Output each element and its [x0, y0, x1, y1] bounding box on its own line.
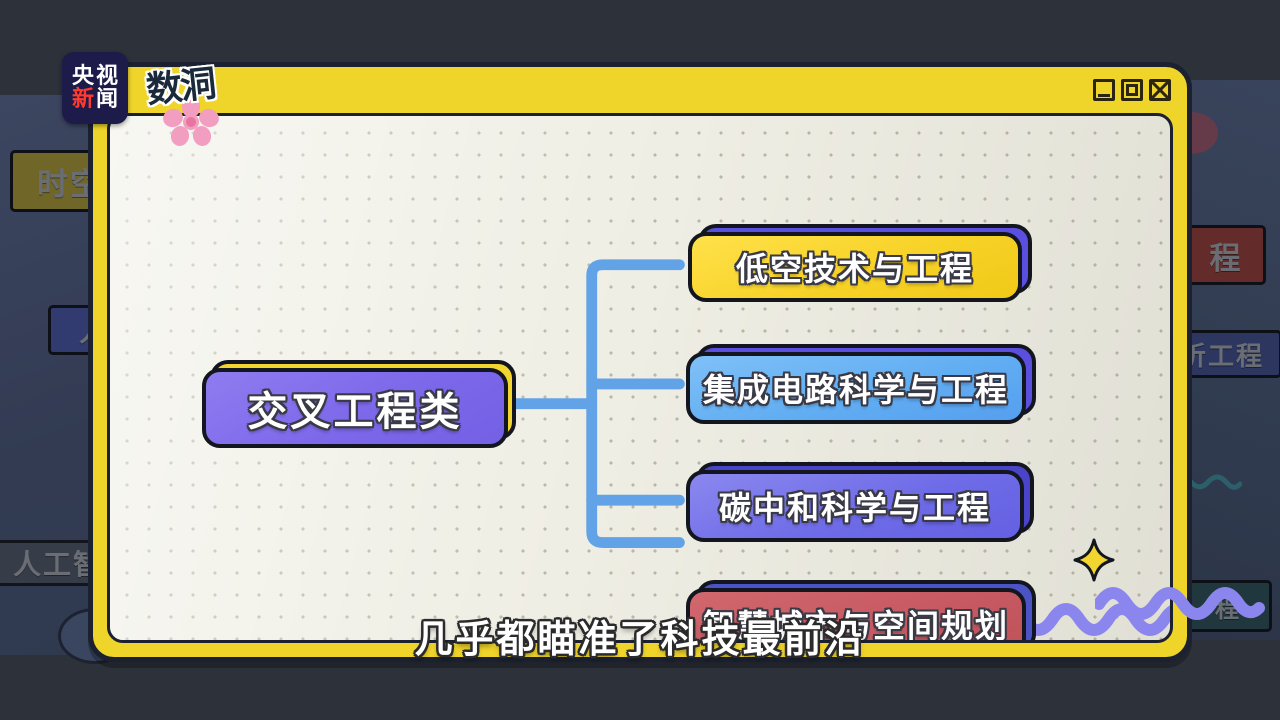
child-node-2-label: 碳中和科学与工程	[719, 483, 991, 529]
minimize-icon[interactable]	[1093, 79, 1115, 101]
program-brand-label: 数洞	[143, 55, 216, 114]
child-node-1-label: 集成电路科学与工程	[703, 365, 1009, 411]
background-chip-cheng: 程	[1186, 225, 1266, 285]
program-brand: 数洞	[146, 58, 256, 128]
cctv-news-logo: 央 视 新 闻	[62, 52, 128, 124]
child-node-zhihui-chengshi-yu-kongjian-guihua[interactable]: 智慧城市与空间规划	[686, 588, 1026, 643]
window-titlebar	[93, 67, 1187, 113]
app-window: 交叉工程类 低空技术与工程 集成电路科学与工程 碳中和科学与工程 智慧城市与空间…	[88, 62, 1192, 662]
mindmap-canvas: 交叉工程类 低空技术与工程 集成电路科学与工程 碳中和科学与工程 智慧城市与空间…	[107, 113, 1173, 643]
root-node-jiaocha-gongchenglei[interactable]: 交叉工程类	[202, 368, 508, 448]
root-node-label: 交叉工程类	[248, 379, 463, 437]
child-node-dikong-jishu-yu-gongcheng[interactable]: 低空技术与工程	[688, 232, 1022, 302]
cctv-char-wen: 闻	[96, 89, 118, 111]
sparkle-star-icon	[1073, 538, 1115, 582]
cctv-logo-row-1: 央 视	[72, 66, 118, 88]
child-node-0-label: 低空技术与工程	[736, 244, 974, 290]
child-node-jicheng-dianlu-kexue-yu-gongcheng[interactable]: 集成电路科学与工程	[686, 352, 1026, 424]
background-chip-bottom-right: 程	[1184, 580, 1272, 632]
maximize-icon[interactable]	[1121, 79, 1143, 101]
cctv-char-shi: 视	[96, 66, 118, 88]
child-node-tanzhonghe-kexue-yu-gongcheng[interactable]: 碳中和科学与工程	[686, 470, 1024, 542]
mindmap: 交叉工程类 低空技术与工程 集成电路科学与工程 碳中和科学与工程 智慧城市与空间…	[110, 116, 1170, 640]
close-icon[interactable]	[1149, 79, 1171, 101]
cctv-char-xin: 新	[72, 89, 94, 111]
cctv-char-yang: 央	[72, 66, 94, 88]
cctv-logo-row-2: 新 闻	[72, 89, 118, 111]
child-node-3-label: 智慧城市与空间规划	[703, 601, 1009, 643]
